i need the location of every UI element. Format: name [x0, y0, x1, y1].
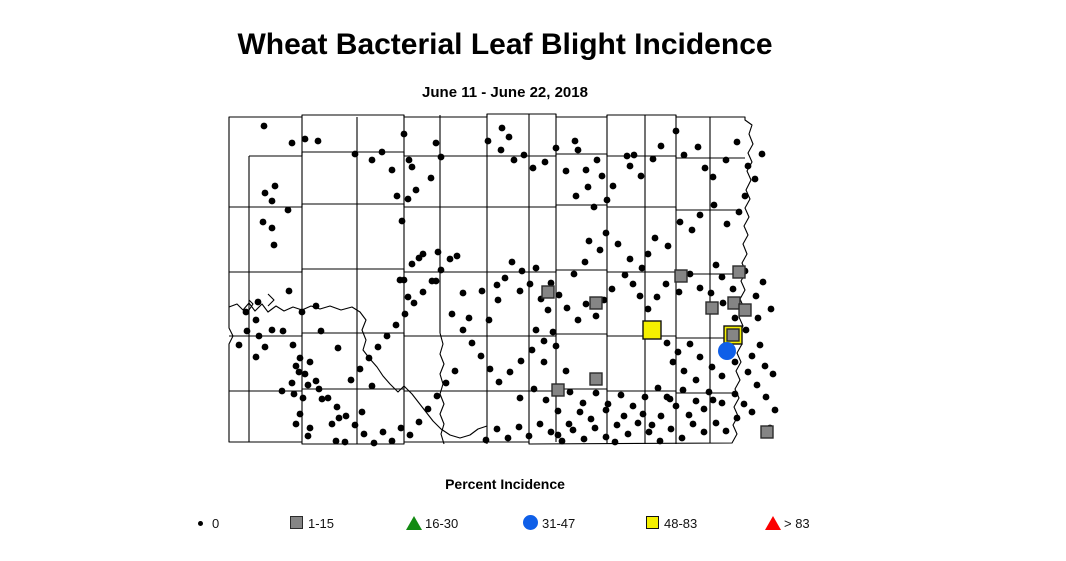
- point-zero: [336, 415, 343, 422]
- point-zero: [269, 225, 276, 232]
- point-zero: [335, 345, 342, 352]
- gray-square-icon: [286, 512, 308, 534]
- point-zero: [591, 204, 598, 211]
- point-zero: [640, 411, 647, 418]
- red-triangle-icon: [762, 512, 784, 534]
- point-zero: [571, 271, 578, 278]
- point-zero: [663, 281, 670, 288]
- north-dakota-county-map: [0, 104, 1010, 464]
- point-zero: [665, 243, 672, 250]
- legend-label-1-15: 1-15: [308, 516, 334, 531]
- point-zero: [585, 184, 592, 191]
- point-zero: [425, 406, 432, 413]
- point-zero: [693, 398, 700, 405]
- point-zero: [533, 327, 540, 334]
- point-1-15: [761, 426, 773, 438]
- point-zero: [719, 274, 726, 281]
- point-zero: [724, 221, 731, 228]
- point-zero: [627, 256, 634, 263]
- point-zero: [645, 306, 652, 313]
- point-1-15: [739, 304, 751, 316]
- point-zero: [519, 268, 526, 275]
- point-zero: [652, 235, 659, 242]
- point-zero: [719, 400, 726, 407]
- legend-title: Percent Incidence: [0, 476, 1010, 492]
- point-zero: [398, 425, 405, 432]
- point-zero: [357, 366, 364, 373]
- point-zero: [262, 344, 269, 351]
- point-zero: [407, 432, 414, 439]
- point-1-15: [733, 266, 745, 278]
- point-zero: [452, 368, 459, 375]
- point-zero: [760, 279, 767, 286]
- point-zero: [541, 338, 548, 345]
- point-zero: [297, 355, 304, 362]
- point-zero: [645, 251, 652, 258]
- point-zero: [610, 183, 617, 190]
- point-zero: [469, 340, 476, 347]
- point-zero: [343, 413, 350, 420]
- point-zero: [494, 426, 501, 433]
- point-zero: [649, 422, 656, 429]
- point-zero: [614, 422, 621, 429]
- point-zero: [749, 409, 756, 416]
- point-zero: [498, 147, 505, 154]
- point-zero: [389, 438, 396, 445]
- point-zero: [695, 144, 702, 151]
- point-zero: [511, 157, 518, 164]
- point-zero: [478, 353, 485, 360]
- point-zero: [271, 242, 278, 249]
- point-zero: [479, 288, 486, 295]
- point-zero: [413, 187, 420, 194]
- point-zero: [680, 387, 687, 394]
- point-zero: [429, 278, 436, 285]
- point-1-15: [552, 384, 564, 396]
- point-zero: [605, 401, 612, 408]
- point-zero: [433, 140, 440, 147]
- incidence-points-zero: [236, 123, 779, 447]
- point-zero: [280, 328, 287, 335]
- point-zero: [594, 157, 601, 164]
- point-zero: [529, 347, 536, 354]
- point-zero: [553, 343, 560, 350]
- point-zero: [563, 368, 570, 375]
- point-zero: [639, 265, 646, 272]
- point-zero: [599, 173, 606, 180]
- point-zero: [253, 317, 260, 324]
- point-zero: [711, 202, 718, 209]
- point-zero: [297, 411, 304, 418]
- point-zero: [397, 277, 404, 284]
- point-zero: [313, 303, 320, 310]
- point-zero: [269, 198, 276, 205]
- legend: 0 1-15 16-30 31-47 48-83 > 83: [190, 508, 890, 542]
- point-zero: [307, 359, 314, 366]
- point-zero: [723, 428, 730, 435]
- point-zero: [675, 349, 682, 356]
- point-zero: [702, 165, 709, 172]
- point-zero: [296, 369, 303, 376]
- point-zero: [293, 421, 300, 428]
- point-zero: [753, 293, 760, 300]
- point-zero: [588, 416, 595, 423]
- point-zero: [399, 218, 406, 225]
- point-zero: [253, 354, 260, 361]
- point-zero: [745, 369, 752, 376]
- point-zero: [485, 138, 492, 145]
- point-zero: [676, 289, 683, 296]
- point-zero: [575, 147, 582, 154]
- point-zero: [393, 322, 400, 329]
- point-zero: [570, 427, 577, 434]
- point-zero: [719, 373, 726, 380]
- map-svg: [0, 104, 1010, 464]
- point-zero: [305, 382, 312, 389]
- point-zero: [460, 327, 467, 334]
- point-31-47: [718, 342, 736, 360]
- point-zero: [506, 134, 513, 141]
- point-zero: [689, 227, 696, 234]
- point-zero: [572, 138, 579, 145]
- point-zero: [369, 157, 376, 164]
- point-zero: [243, 309, 250, 316]
- point-zero: [401, 131, 408, 138]
- point-zero: [531, 386, 538, 393]
- point-zero: [411, 300, 418, 307]
- point-zero: [732, 391, 739, 398]
- point-zero: [318, 328, 325, 335]
- point-zero: [394, 193, 401, 200]
- point-zero: [379, 149, 386, 156]
- point-zero: [638, 173, 645, 180]
- point-zero: [752, 176, 759, 183]
- point-zero: [443, 380, 450, 387]
- point-zero: [454, 253, 461, 260]
- point-zero: [582, 259, 589, 266]
- point-zero: [709, 364, 716, 371]
- point-zero: [507, 369, 514, 376]
- point-zero: [269, 327, 276, 334]
- point-zero: [697, 354, 704, 361]
- point-zero: [658, 143, 665, 150]
- point-zero: [723, 157, 730, 164]
- point-zero: [541, 359, 548, 366]
- legend-item-48-83: 48-83: [642, 508, 697, 538]
- point-1-15: [728, 297, 740, 309]
- point-zero: [609, 286, 616, 293]
- point-zero: [642, 394, 649, 401]
- point-zero: [302, 371, 309, 378]
- point-zero: [730, 286, 737, 293]
- point-zero: [742, 193, 749, 200]
- point-zero: [375, 344, 382, 351]
- point-1-15: [542, 286, 554, 298]
- point-zero: [517, 288, 524, 295]
- point-1-15: [590, 373, 602, 385]
- point-zero: [299, 309, 306, 316]
- point-zero: [334, 404, 341, 411]
- point-zero: [236, 342, 243, 349]
- map-figure: Wheat Bacterial Leaf Blight Incidence Ju…: [0, 0, 1066, 561]
- legend-label-48-83: 48-83: [664, 516, 697, 531]
- point-zero: [586, 238, 593, 245]
- point-zero: [734, 415, 741, 422]
- point-zero: [302, 136, 309, 143]
- point-zero: [420, 251, 427, 258]
- point-zero: [438, 267, 445, 274]
- point-zero: [713, 420, 720, 427]
- point-zero: [743, 327, 750, 334]
- point-zero: [319, 396, 326, 403]
- point-zero: [348, 377, 355, 384]
- point-zero: [409, 261, 416, 268]
- point-zero: [759, 151, 766, 158]
- point-zero: [496, 379, 503, 386]
- point-zero: [325, 395, 332, 402]
- legend-label-16-30: 16-30: [425, 516, 458, 531]
- blue-circle-icon: [520, 512, 542, 534]
- point-zero: [577, 409, 584, 416]
- point-zero: [361, 431, 368, 438]
- point-zero: [428, 175, 435, 182]
- point-zero: [371, 440, 378, 447]
- point-zero: [624, 153, 631, 160]
- point-zero: [352, 422, 359, 429]
- point-zero: [580, 400, 587, 407]
- point-zero: [449, 311, 456, 318]
- point-zero: [435, 249, 442, 256]
- point-zero: [384, 333, 391, 340]
- point-zero: [567, 389, 574, 396]
- point-zero: [279, 388, 286, 395]
- point-zero: [487, 366, 494, 373]
- point-zero: [434, 393, 441, 400]
- point-zero: [262, 190, 269, 197]
- point-zero: [654, 294, 661, 301]
- point-zero: [772, 407, 779, 414]
- point-zero: [272, 183, 279, 190]
- point-zero: [526, 433, 533, 440]
- point-zero: [697, 285, 704, 292]
- point-zero: [768, 306, 775, 313]
- point-zero: [618, 392, 625, 399]
- point-zero: [307, 425, 314, 432]
- point-zero: [542, 159, 549, 166]
- page-title: Wheat Bacterial Leaf Blight Incidence: [0, 28, 1010, 61]
- point-zero: [603, 434, 610, 441]
- point-zero: [597, 247, 604, 254]
- legend-item-1-15: 1-15: [286, 508, 334, 538]
- point-zero: [657, 438, 664, 445]
- point-zero: [668, 426, 675, 433]
- point-zero: [686, 412, 693, 419]
- point-zero: [289, 380, 296, 387]
- point-zero: [359, 409, 366, 416]
- point-zero: [762, 363, 769, 370]
- point-zero: [621, 413, 628, 420]
- point-zero: [409, 164, 416, 171]
- point-zero: [405, 294, 412, 301]
- point-1-15: [706, 302, 718, 314]
- point-zero: [380, 429, 387, 436]
- point-zero: [548, 429, 555, 436]
- legend-item-16-30: 16-30: [403, 508, 458, 538]
- point-1-15: [675, 270, 687, 282]
- point-zero: [757, 342, 764, 349]
- point-zero: [770, 371, 777, 378]
- point-zero: [693, 377, 700, 384]
- point-zero: [533, 265, 540, 272]
- point-zero: [583, 301, 590, 308]
- point-zero: [438, 154, 445, 161]
- point-zero: [734, 139, 741, 146]
- point-zero: [369, 383, 376, 390]
- point-zero: [673, 128, 680, 135]
- green-triangle-icon: [403, 512, 425, 534]
- point-zero: [550, 329, 557, 336]
- point-zero: [556, 292, 563, 299]
- point-zero: [315, 138, 322, 145]
- yellow-square-icon: [642, 512, 664, 534]
- point-zero: [333, 438, 340, 445]
- legend-label-31-47: 31-47: [542, 516, 575, 531]
- point-zero: [710, 397, 717, 404]
- point-zero: [502, 275, 509, 282]
- point-zero: [630, 403, 637, 410]
- point-zero: [701, 429, 708, 436]
- point-zero: [612, 439, 619, 446]
- point-zero: [420, 289, 427, 296]
- point-zero: [486, 317, 493, 324]
- point-zero: [518, 358, 525, 365]
- point-zero: [622, 272, 629, 279]
- point-zero: [670, 359, 677, 366]
- point-zero: [352, 151, 359, 158]
- point-zero: [710, 174, 717, 181]
- point-zero: [720, 300, 727, 307]
- point-zero: [655, 385, 662, 392]
- point-zero: [603, 407, 610, 414]
- point-zero: [697, 212, 704, 219]
- point-zero: [673, 403, 680, 410]
- point-zero: [658, 413, 665, 420]
- point-zero: [566, 421, 573, 428]
- point-zero: [555, 432, 562, 439]
- point-zero: [505, 435, 512, 442]
- point-zero: [406, 157, 413, 164]
- point-zero: [305, 433, 312, 440]
- point-zero: [573, 193, 580, 200]
- point-zero: [466, 315, 473, 322]
- point-zero: [664, 340, 671, 347]
- point-zero: [687, 341, 694, 348]
- point-zero: [631, 152, 638, 159]
- point-zero: [405, 196, 412, 203]
- point-zero: [754, 382, 761, 389]
- legend-item-0: 0: [190, 508, 219, 538]
- point-1-15: [727, 329, 739, 341]
- point-zero: [555, 408, 562, 415]
- point-zero: [650, 156, 657, 163]
- point-zero: [708, 290, 715, 297]
- point-zero: [545, 307, 552, 314]
- point-zero: [260, 219, 267, 226]
- point-zero: [530, 165, 537, 172]
- point-zero: [527, 281, 534, 288]
- point-zero: [517, 395, 524, 402]
- point-zero: [732, 315, 739, 322]
- point-zero: [516, 424, 523, 431]
- point-zero: [603, 230, 610, 237]
- point-zero: [637, 293, 644, 300]
- point-zero: [625, 431, 632, 438]
- point-zero: [681, 368, 688, 375]
- point-zero: [553, 145, 560, 152]
- point-zero: [706, 389, 713, 396]
- point-zero: [494, 282, 501, 289]
- point-zero: [255, 299, 262, 306]
- point-zero: [447, 256, 454, 263]
- point-zero: [635, 420, 642, 427]
- date-range-subtitle: June 11 - June 22, 2018: [0, 84, 1010, 101]
- point-zero: [313, 378, 320, 385]
- point-zero: [677, 219, 684, 226]
- point-zero: [286, 288, 293, 295]
- point-zero: [543, 397, 550, 404]
- point-zero: [755, 315, 762, 322]
- point-zero: [741, 401, 748, 408]
- small-black-dot-icon: [190, 512, 212, 534]
- point-zero: [290, 342, 297, 349]
- legend-item-gt-83: > 83: [762, 508, 810, 538]
- point-zero: [593, 313, 600, 320]
- point-zero: [559, 438, 566, 445]
- point-zero: [342, 439, 349, 446]
- point-zero: [261, 123, 268, 130]
- point-zero: [575, 317, 582, 324]
- point-zero: [402, 311, 409, 318]
- point-zero: [289, 140, 296, 147]
- point-zero: [509, 259, 516, 266]
- point-zero: [592, 425, 599, 432]
- point-1-15: [590, 297, 602, 309]
- point-zero: [581, 436, 588, 443]
- point-zero: [563, 168, 570, 175]
- point-zero: [285, 207, 292, 214]
- point-zero: [615, 241, 622, 248]
- point-zero: [329, 421, 336, 428]
- point-zero: [291, 391, 298, 398]
- point-zero: [679, 435, 686, 442]
- point-zero: [316, 386, 323, 393]
- point-zero: [521, 152, 528, 159]
- point-zero: [627, 163, 634, 170]
- point-zero: [630, 281, 637, 288]
- point-zero: [583, 167, 590, 174]
- point-zero: [646, 429, 653, 436]
- point-zero: [736, 209, 743, 216]
- point-zero: [460, 290, 467, 297]
- point-zero: [244, 328, 251, 335]
- point-zero: [604, 197, 611, 204]
- point-zero: [300, 395, 307, 402]
- point-zero: [537, 421, 544, 428]
- point-zero: [499, 125, 506, 132]
- point-zero: [593, 390, 600, 397]
- point-zero: [416, 419, 423, 426]
- point-zero: [293, 363, 300, 370]
